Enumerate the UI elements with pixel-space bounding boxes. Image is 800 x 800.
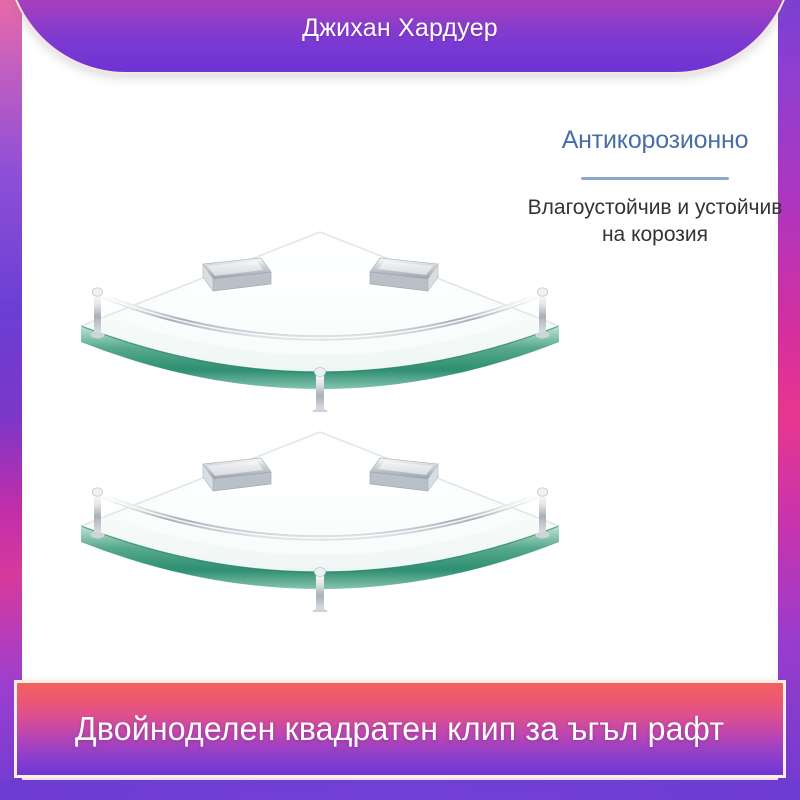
glass-corner-shelf-illustration [75,422,565,612]
store-name-title: Джихан Хардуер [8,14,792,43]
feature-callout: Антикорозионно Влагоустойчив и устойчив … [520,126,790,249]
feature-description: Влагоустойчив и устойчив на корозия [520,194,790,249]
product-title-text: Двойноделен квадратен клип за ъгъл рафт [75,710,724,748]
store-header-banner: Джихан Хардуер [6,0,794,74]
product-photo-bottom [75,422,565,612]
decorative-bottom-edge-strip [0,780,800,800]
feature-heading: Антикорозионно [520,126,790,155]
product-photo-top [75,222,565,412]
feature-divider [581,177,729,180]
glass-corner-shelf-illustration [75,222,565,412]
product-image-canvas: Джихан Хардуер Антикорозионно Влагоустой… [0,0,800,800]
product-title-banner: Двойноделен квадратен клип за ъгъл рафт [14,680,786,778]
